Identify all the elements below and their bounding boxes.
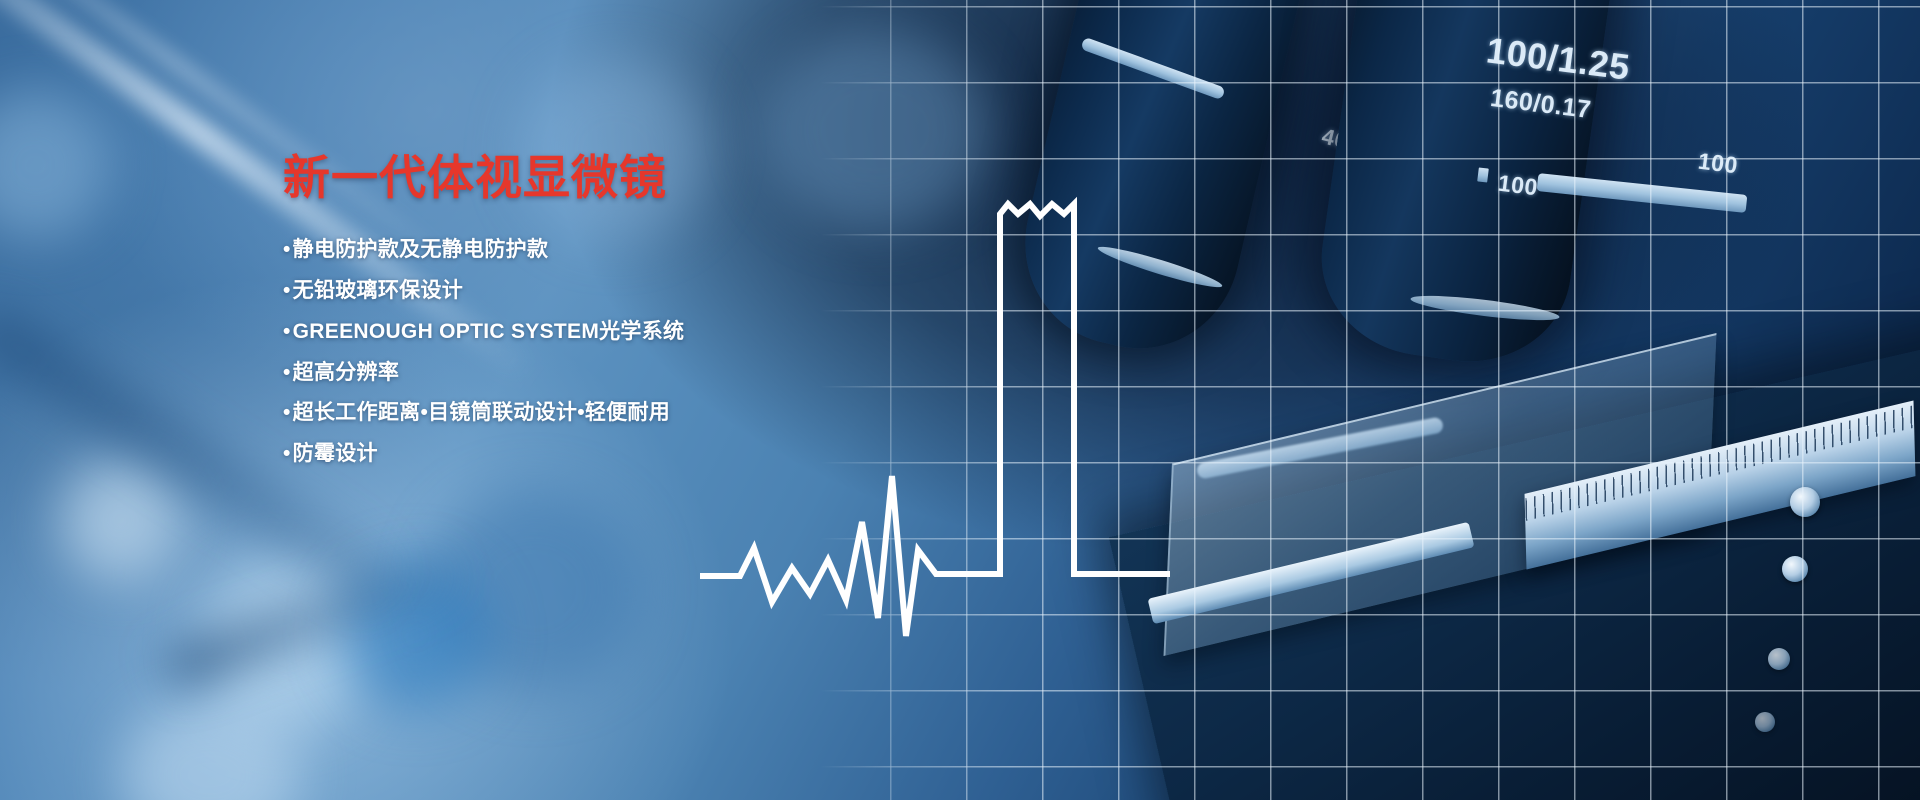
feature-list: •静电防护款及无静电防护款 •无铅玻璃环保设计 •GREENOUGH OPTIC… (283, 230, 923, 476)
bullet-marker: • (283, 320, 291, 343)
product-banner: 40 100/1.25 160/0.17 100 100 POLLA 新一代体视… (0, 0, 1920, 800)
list-item-label: GREENOUGH OPTIC SYSTEM光学系统 (293, 320, 685, 343)
list-item: •静电防护款及无静电防护款 (283, 230, 923, 271)
bullet-marker: • (283, 401, 291, 424)
list-item-label: 超高分辨率 (293, 361, 400, 384)
bullet-marker: • (283, 279, 291, 302)
copy-block: 新一代体视显微镜 •静电防护款及无静电防护款 •无铅玻璃环保设计 •GREENO… (283, 152, 923, 475)
list-item-label: 无铅玻璃环保设计 (293, 279, 463, 302)
bullet-marker: • (283, 442, 291, 465)
list-item: •超高分辨率 (283, 353, 923, 394)
list-item: •GREENOUGH OPTIC SYSTEM光学系统 (283, 312, 923, 353)
list-item: •无铅玻璃环保设计 (283, 271, 923, 312)
page-title: 新一代体视显微镜 (283, 152, 923, 204)
bullet-marker: • (283, 238, 291, 261)
list-item-label: 超长工作距离•目镜筒联动设计•轻便耐用 (293, 401, 670, 424)
list-item-label: 静电防护款及无静电防护款 (293, 238, 549, 261)
bullet-marker: • (283, 361, 291, 384)
list-item-label: 防霉设计 (293, 442, 378, 465)
list-item: •超长工作距离•目镜筒联动设计•轻便耐用 (283, 393, 923, 434)
list-item: •防霉设计 (283, 434, 923, 475)
